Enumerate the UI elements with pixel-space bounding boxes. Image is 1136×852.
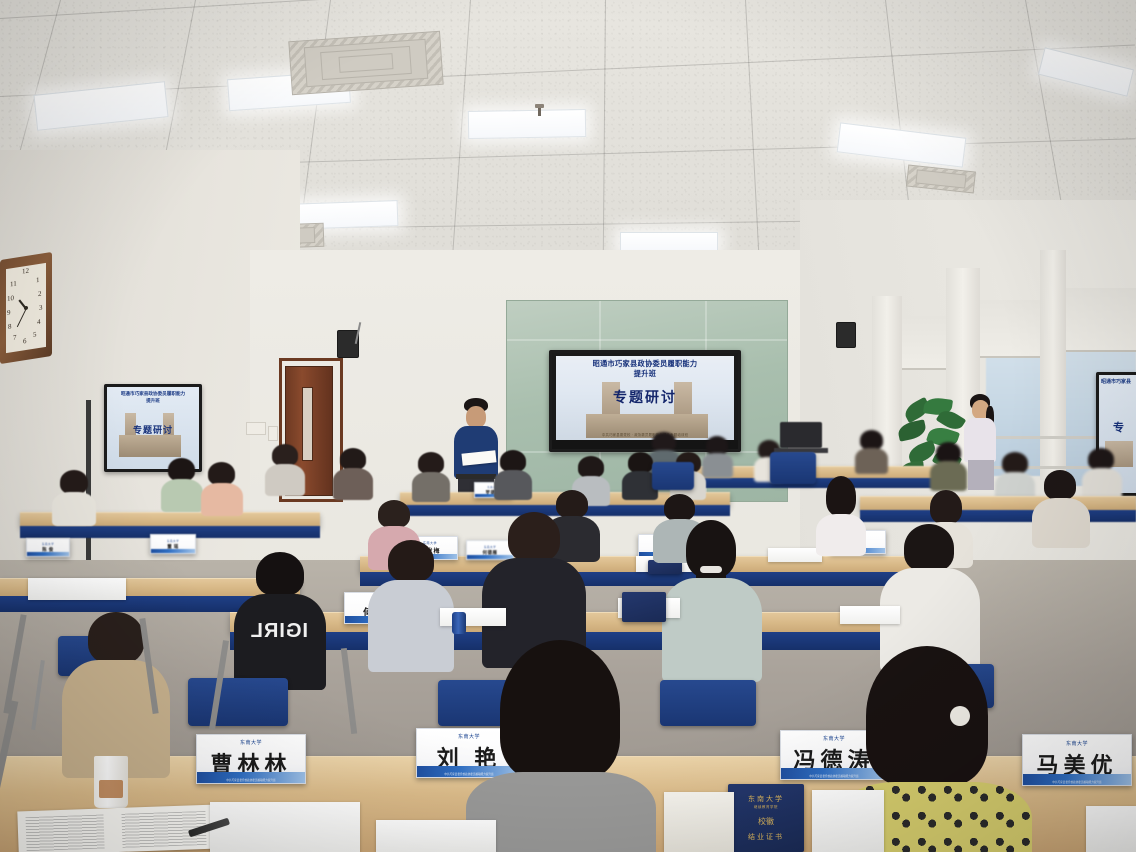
slide-footer-text: 中共巧家县委党校 · 政协委员履职能力提升专题培训班 (556, 432, 734, 437)
side-right-title: 昭通市巧家县 (1099, 379, 1136, 385)
roller-blind (1056, 288, 1136, 352)
wall-speaker (836, 322, 856, 348)
light-switch-panel[interactable] (246, 422, 266, 435)
papers-on-desk (210, 802, 360, 852)
notebook (812, 790, 884, 852)
name-card: 东南大学 何德雁 (466, 540, 514, 560)
monitor-stand (86, 400, 91, 580)
chair[interactable] (188, 678, 288, 726)
papers-on-desk (1086, 806, 1136, 852)
desk-panel (860, 510, 1136, 522)
ceiling-light-panel (468, 109, 586, 139)
roller-blind (900, 316, 948, 370)
name-card: 东南大学 曹林林 中共巧家县委党校政协委员履职能力提升班 (196, 734, 306, 784)
papers-on-desk (840, 606, 900, 624)
side-slide-title-line2: 提升班 (107, 398, 199, 404)
slide-content: 昭通市巧家县政协委员履职能力 提升班 专题研讨 中共巧家县委党校 · 政协委员履… (556, 356, 734, 440)
clock-minute-hand (16, 308, 26, 327)
ceiling-light-panel (620, 232, 718, 252)
folder (622, 592, 666, 622)
fire-sprinkler-icon (535, 104, 544, 116)
chair[interactable] (770, 452, 816, 484)
light-switch-panel[interactable] (268, 426, 278, 441)
hair-tie (700, 566, 722, 573)
open-book (17, 805, 218, 852)
chair[interactable] (660, 680, 756, 726)
desk-panel (360, 572, 920, 586)
side-slide-main-text: 专题研讨 (107, 423, 199, 436)
slide-main-text: 专题研讨 (556, 387, 734, 407)
paper-cup[interactable] (94, 756, 128, 808)
wall-pillar (1040, 250, 1066, 480)
hair-clip (950, 706, 970, 726)
wall-clock: 12 1 2 3 4 5 6 7 8 9 10 11 (0, 256, 52, 360)
papers-on-desk (440, 608, 506, 626)
tshirt-graphic: IGIRL (252, 620, 308, 650)
hvac-diffuser (288, 31, 443, 95)
papers-on-desk (376, 820, 496, 852)
side-slide-title-line1: 昭通市巧家县政协委员履职能力 (107, 391, 199, 397)
slide-title-line1: 昭通市巧家县政协委员履职能力 (556, 359, 734, 368)
papers-on-desk (28, 578, 126, 600)
name-card: 东南大学 董 瑶 (150, 534, 196, 554)
roller-blind (980, 300, 1046, 358)
chair[interactable] (652, 462, 694, 490)
water-bottle[interactable] (452, 612, 466, 634)
name-card: 东南大学 马美优 中共巧家县委党校政协委员履职能力提升班 (1022, 734, 1132, 786)
classroom-photo: 昭通市巧家县政协委员履职能力 提升班 专题研讨 中共巧家县委党校 · 政协委员履… (0, 0, 1136, 852)
desk-row-right-back (860, 496, 1136, 511)
papers-on-desk (664, 792, 734, 852)
side-right-main: 专 (1099, 419, 1136, 435)
name-card: 东南大学 陈 俊 (26, 538, 70, 557)
observer-trousers (968, 460, 994, 490)
papers-on-desk (768, 548, 822, 562)
slide-title-line2: 提升班 (556, 369, 734, 378)
laptop[interactable] (780, 422, 822, 448)
certificate-folder: 东南大学 继续教育学院 校徽 结业证书 (728, 784, 804, 852)
